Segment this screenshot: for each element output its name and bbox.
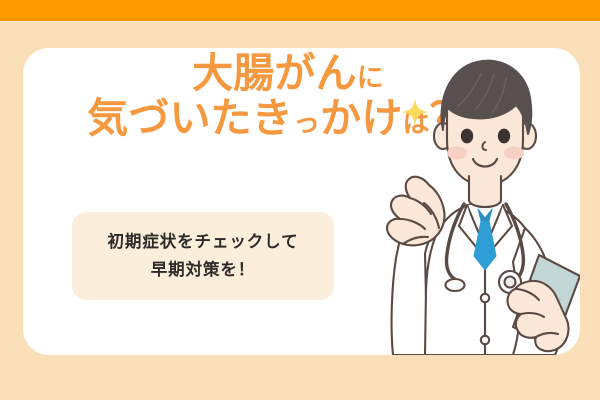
left-eye (461, 129, 473, 144)
doctor-illustration (363, 48, 580, 355)
top-accent-bar (0, 0, 600, 21)
subtitle-line-2: 早期対策を！ (151, 256, 255, 284)
poster-canvas: 大腸がんに 気づいたきっかけは？ 初期症状をチェックして 早期対策を！ (0, 0, 600, 400)
headline-line2-main-a: 気づいたき (87, 95, 293, 141)
subtitle-callout-box: 初期症状をチェックして 早期対策を！ (72, 212, 334, 300)
sparkle-icon (401, 98, 429, 126)
subtitle-line-1: 初期症状をチェックして (108, 228, 299, 256)
left-blush (447, 147, 467, 160)
coat-button-upper (481, 294, 489, 302)
left-raised-hand (387, 177, 445, 246)
content-card: 大腸がんに 気づいたきっかけは？ 初期症状をチェックして 早期対策を！ (23, 48, 580, 355)
headline-line1-main: 大腸がん (192, 50, 357, 96)
right-eye (498, 129, 510, 144)
stethoscope-diaphragm (505, 277, 516, 288)
coat-button-lower (481, 336, 489, 344)
stethoscope-earpiece (446, 279, 465, 291)
headline-line2-small-tsu: っ (293, 108, 320, 138)
right-blush (504, 147, 524, 160)
neck (469, 176, 501, 207)
